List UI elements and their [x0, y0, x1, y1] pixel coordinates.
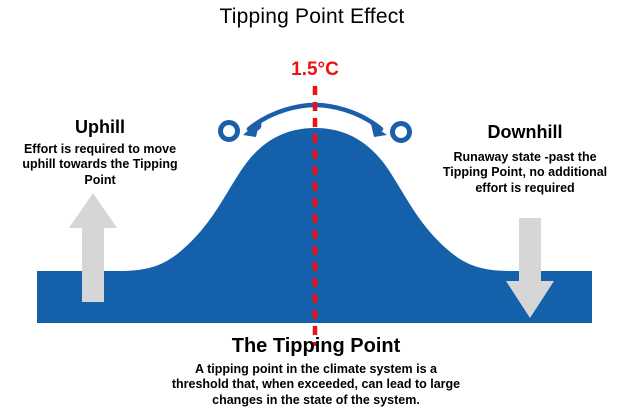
- page-title: Tipping Point Effect: [0, 4, 624, 30]
- uphill-heading: Uphill: [10, 117, 190, 139]
- threshold-temperature-label: 1.5°C: [255, 58, 375, 81]
- right-state-circle-icon: [393, 124, 410, 141]
- downhill-heading: Downhill: [435, 122, 615, 144]
- uphill-description: Effort is required to move uphill toward…: [12, 142, 188, 188]
- downhill-description: Runaway state -past the Tipping Point, n…: [432, 150, 618, 196]
- tipping-point-diagram: Tipping Point Effect 1.5°C Uphill Effort…: [0, 0, 624, 420]
- tipping-point-heading: The Tipping Point: [182, 334, 450, 358]
- left-state-circle-icon: [221, 123, 238, 140]
- tipping-point-description: A tipping point in the climate system is…: [170, 362, 462, 408]
